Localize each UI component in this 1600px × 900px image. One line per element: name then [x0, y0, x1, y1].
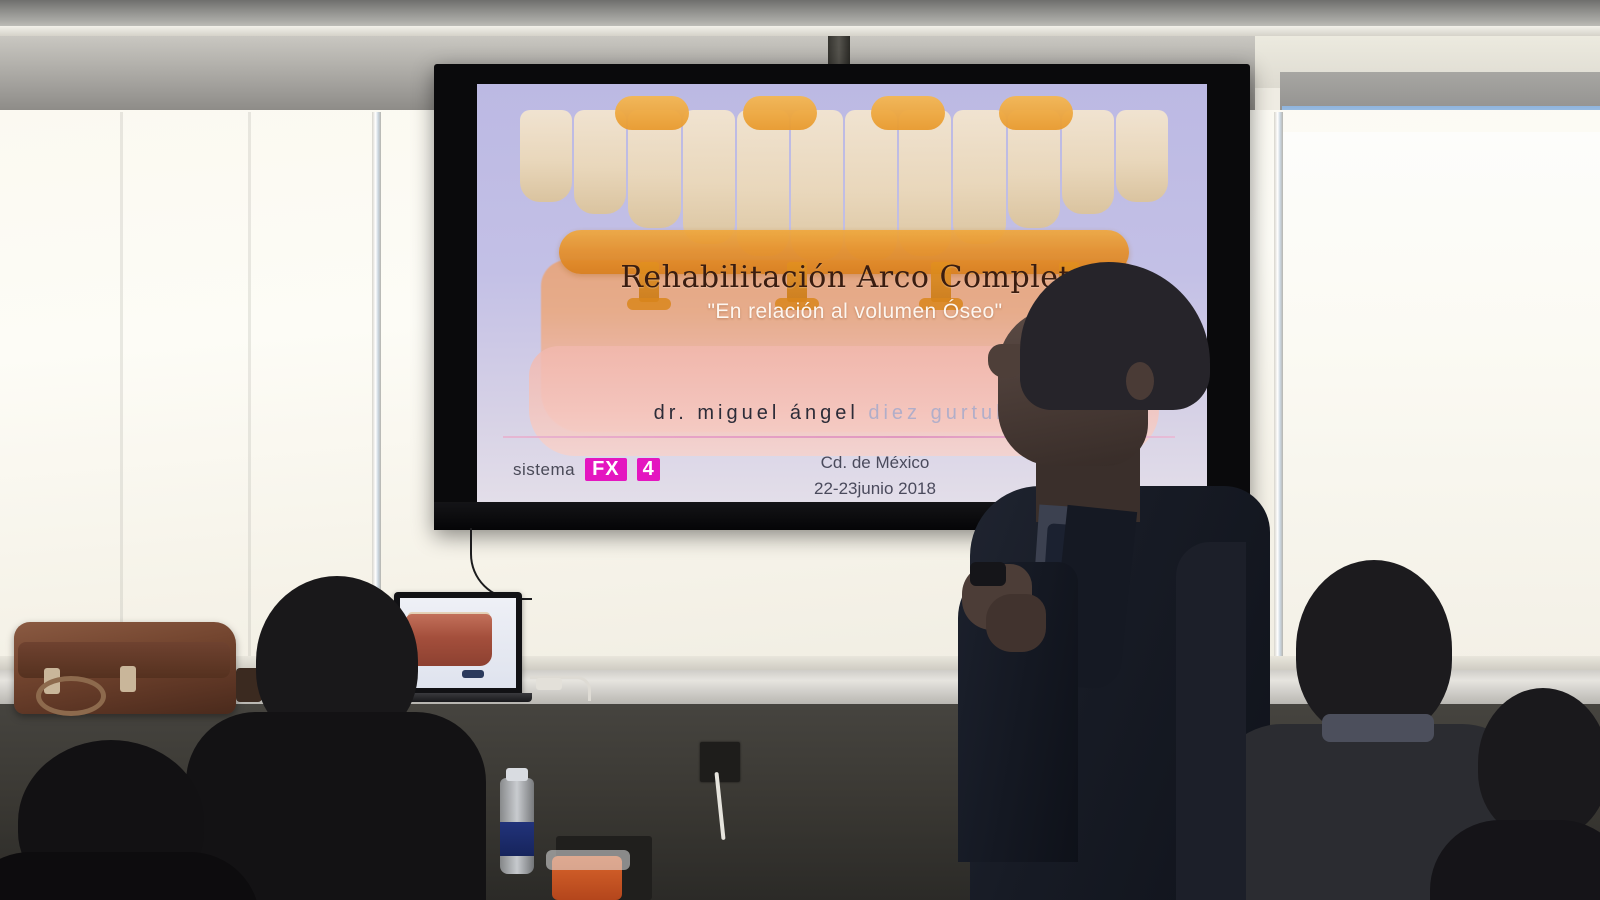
audience-shoulders — [0, 852, 260, 900]
implant-bar-bump — [743, 96, 817, 130]
tooth — [1062, 110, 1114, 214]
presenter-hair — [1020, 262, 1210, 410]
presenter-hand-right — [986, 594, 1046, 652]
presenter-nose — [988, 344, 1022, 378]
audience-body-sliver — [1176, 542, 1246, 900]
tooth — [683, 110, 735, 244]
blind-slat — [248, 112, 251, 672]
ceiling-lip — [0, 26, 1600, 36]
snack-wrapper — [546, 850, 630, 870]
implant-bar-bump — [999, 96, 1073, 130]
brand-mark-four: 4 — [637, 458, 660, 481]
water-bottle-label — [500, 822, 534, 856]
presentation-clicker — [970, 562, 1006, 586]
laptop-charger-brick — [536, 678, 562, 690]
brand-mark-fx: FX — [585, 458, 627, 481]
laptop-image-caption — [462, 670, 484, 678]
implant-bar-bump — [871, 96, 945, 130]
author-name-strong: dr. miguel ángel — [654, 402, 869, 424]
bag-buckle — [120, 666, 136, 692]
brand-word: sistema — [513, 460, 575, 480]
audience-shirt-collar — [1322, 714, 1434, 742]
implant-bar-bump — [615, 96, 689, 130]
tooth — [520, 110, 572, 202]
audience-head — [1296, 560, 1452, 738]
tooth — [1116, 110, 1168, 202]
laptop-image-dental-arch — [406, 614, 492, 666]
presenter-ear — [1126, 362, 1154, 400]
tooth — [574, 110, 626, 214]
brand-logo: sistema FX 4 — [513, 458, 660, 481]
bag-strap — [36, 676, 106, 716]
blind-slat — [120, 112, 123, 672]
audience-head — [1478, 688, 1600, 838]
water-bottle-cap — [506, 768, 528, 781]
power-outlet — [700, 742, 740, 782]
tooth — [953, 110, 1005, 244]
presentation-room-photo: Rehabilitación Arco Completo "En relació… — [0, 0, 1600, 900]
